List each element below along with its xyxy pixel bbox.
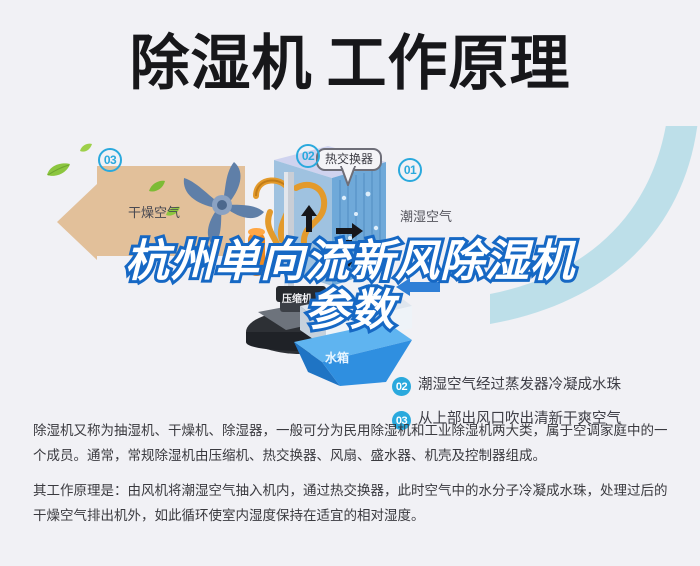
watermark: 杭州单向流新风除湿机参数 (0, 237, 700, 335)
infographic-page: 除湿机工作原理 (0, 0, 700, 566)
legend-text: 潮湿空气经过蒸发器冷凝成水珠 (418, 376, 621, 394)
diagram-badge-02: 02 (296, 144, 320, 168)
description-text: 除湿机又称为抽湿机、干燥机、除湿器，一般可分为民用除湿机和工业除湿机两大类，属于… (33, 418, 671, 538)
list-item: 02 潮湿空气经过蒸发器冷凝成水珠 (392, 376, 692, 396)
callout-tail-icon (340, 166, 356, 186)
legend-badge: 02 (392, 377, 411, 396)
leaf-icon (45, 162, 71, 178)
leaf-icon (148, 180, 166, 193)
paragraph-2: 其工作原理是：由风机将潮湿空气抽入机内，通过热交换器，此时空气中的水分子冷凝成水… (33, 478, 671, 528)
watermark-text: 杭州单向流新风除湿机参数 (120, 237, 580, 335)
paragraph-1: 除湿机又称为抽湿机、干燥机、除湿器，一般可分为民用除湿机和工业除湿机两大类，属于… (33, 418, 671, 468)
moist-air-label: 潮湿空气 (400, 206, 452, 225)
title-part-2: 工作原理 (327, 30, 571, 97)
diagram-badge-03: 03 (98, 148, 122, 172)
diagram-badge-01: 01 (398, 158, 422, 182)
heat-exchanger-label: 热交换器 (325, 152, 373, 166)
dry-air-label: 干燥空气 (128, 202, 180, 221)
water-tank-label: 水箱 (325, 349, 349, 366)
page-title: 除湿机工作原理 (0, 28, 700, 100)
title-part-1: 除湿机 (130, 30, 313, 97)
leaf-icon (79, 143, 93, 153)
